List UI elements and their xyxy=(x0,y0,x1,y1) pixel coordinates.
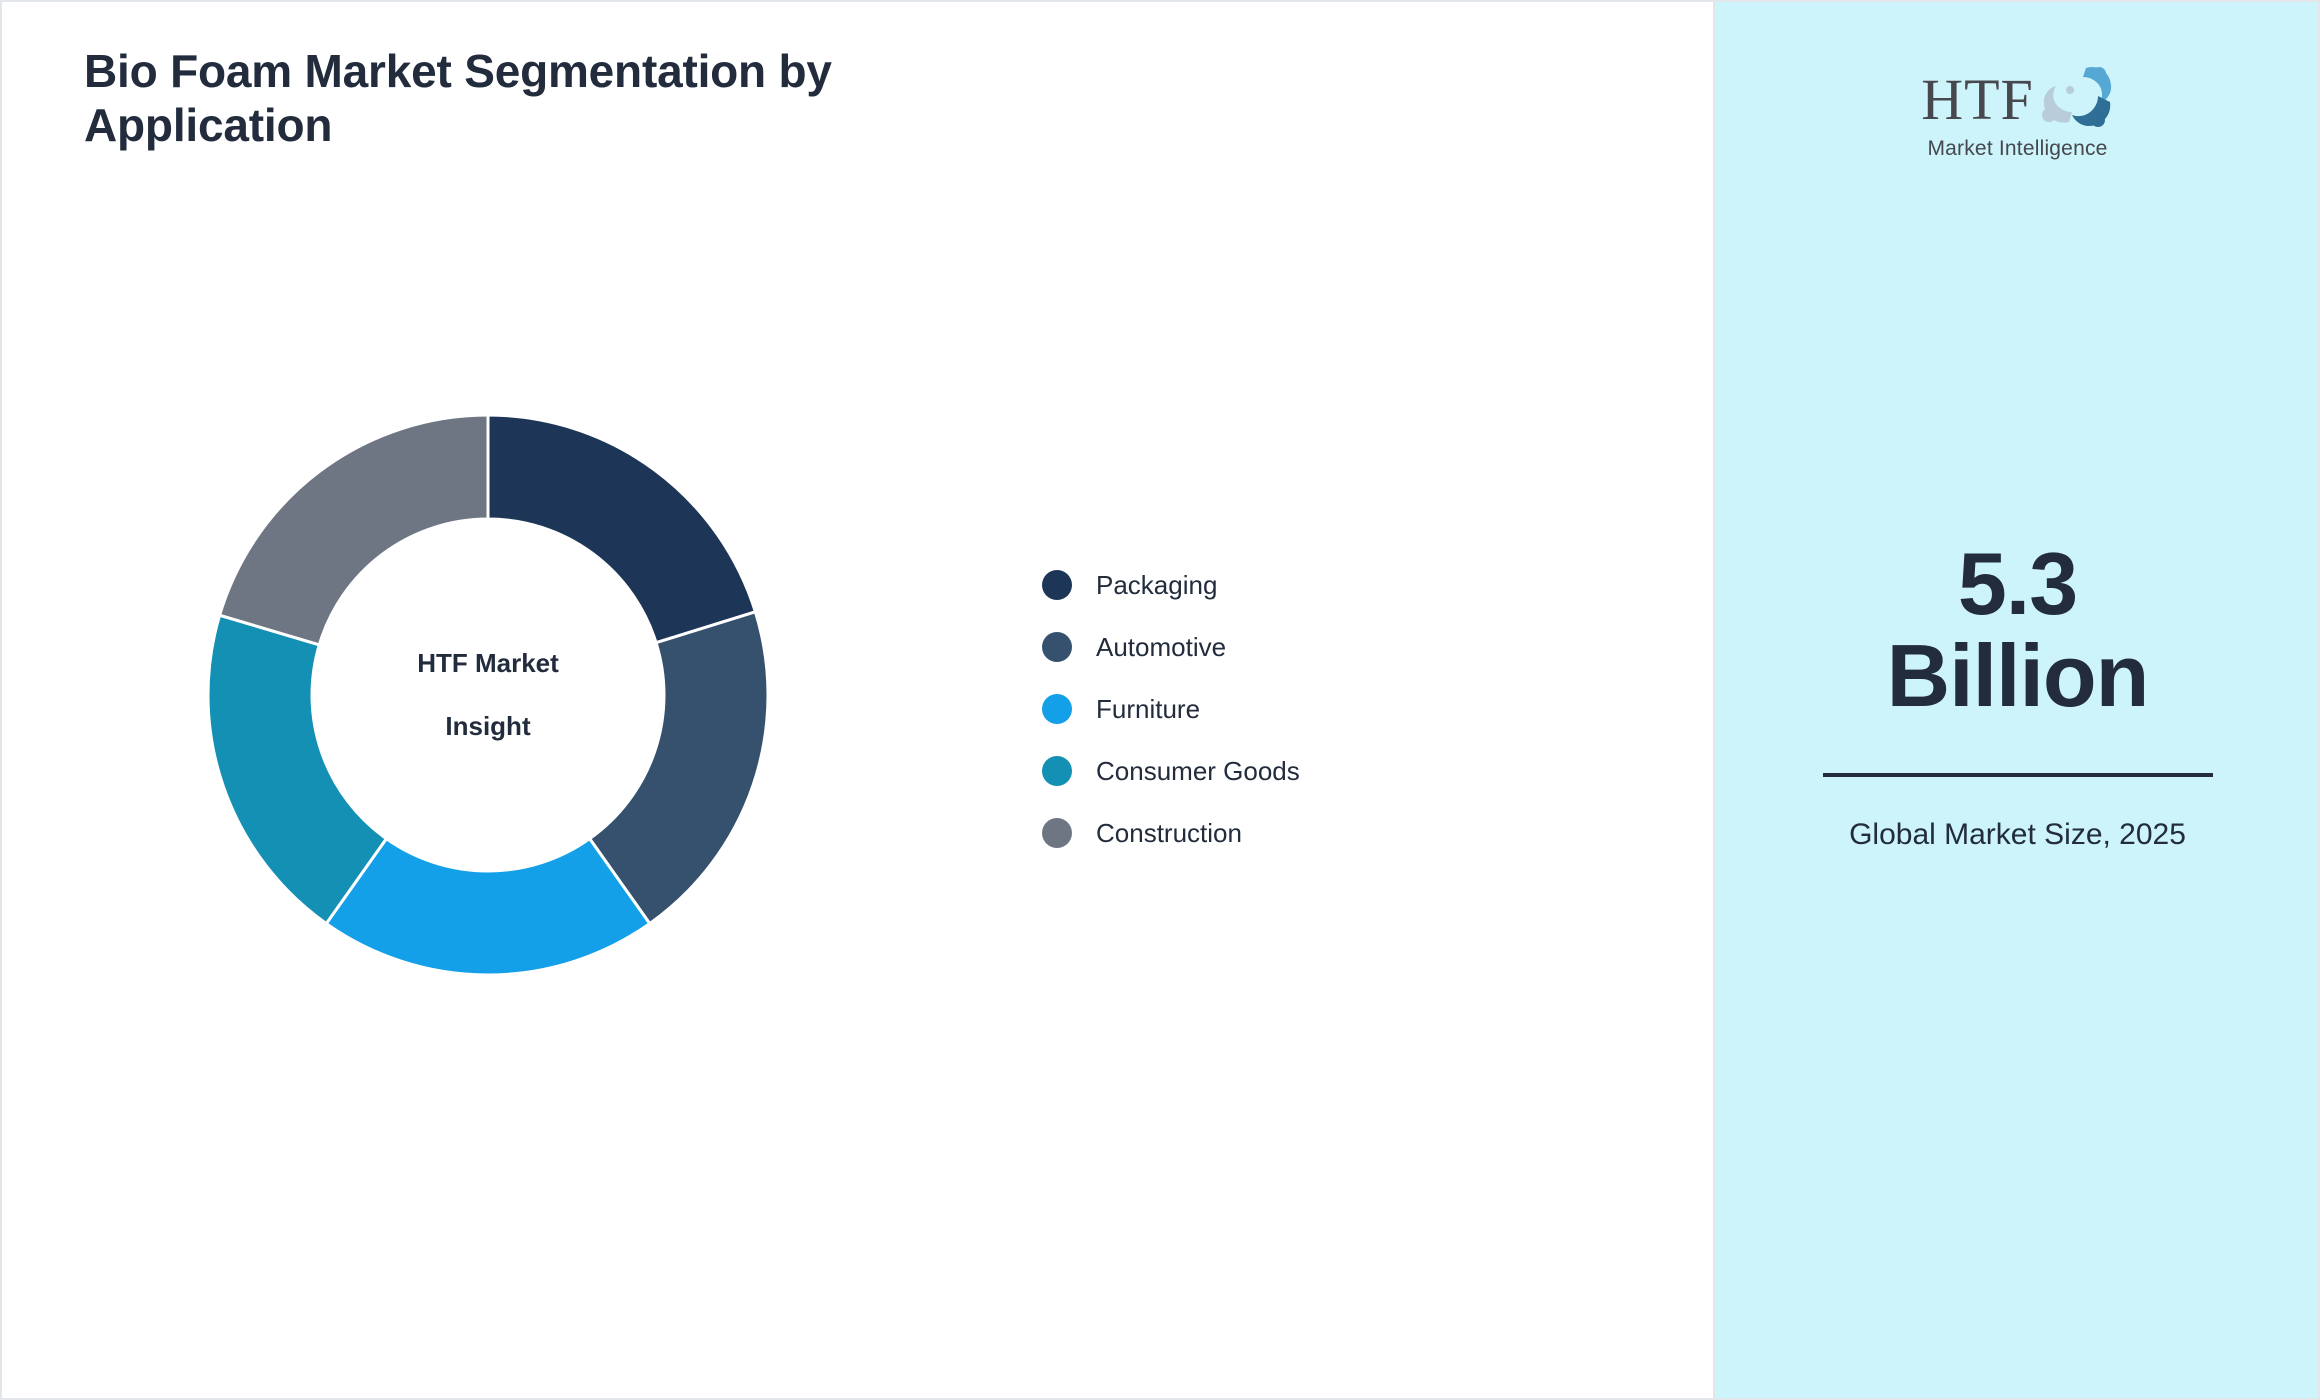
chart-legend: PackagingAutomotiveFurnitureConsumer Goo… xyxy=(1042,554,1300,864)
logo-wordmark: HTF xyxy=(1921,71,2034,129)
legend-item[interactable]: Packaging xyxy=(1042,554,1300,616)
side-panel: HTF Market Intelligence 5. xyxy=(1715,0,2320,1400)
legend-swatch-icon xyxy=(1042,570,1072,600)
legend-item[interactable]: Construction xyxy=(1042,802,1300,864)
donut-slice-packaging[interactable] xyxy=(488,415,755,643)
stat-block: 5.3 Billion Global Market Size, 2025 xyxy=(1715,538,2320,855)
donut-slice-furniture[interactable] xyxy=(326,839,649,975)
main-panel: Bio Foam Market Segmentation by Applicat… xyxy=(0,0,1715,1400)
donut-chart: HTF Market Insight xyxy=(188,395,788,995)
stat-caption: Global Market Size, 2025 xyxy=(1848,815,2188,856)
infographic-root: Bio Foam Market Segmentation by Applicat… xyxy=(0,0,2320,1400)
legend-item-label: Furniture xyxy=(1096,694,1200,725)
legend-item-label: Automotive xyxy=(1096,632,1226,663)
donut-slice-consumer-goods[interactable] xyxy=(208,615,386,923)
logo-tagline: Market Intelligence xyxy=(1927,137,2107,161)
page-title: Bio Foam Market Segmentation by Applicat… xyxy=(84,44,1064,153)
legend-item[interactable]: Consumer Goods xyxy=(1042,740,1300,802)
legend-swatch-icon xyxy=(1042,694,1072,724)
stat-value-line2: Billion xyxy=(1715,630,2320,722)
legend-swatch-icon xyxy=(1042,632,1072,662)
logo-row: HTF xyxy=(1921,64,2114,135)
donut-slice-group xyxy=(208,415,768,975)
donut-slice-construction[interactable] xyxy=(220,415,488,645)
legend-item[interactable]: Furniture xyxy=(1042,678,1300,740)
donut-chart-svg xyxy=(188,395,788,995)
legend-item-label: Construction xyxy=(1096,818,1242,849)
htf-people-circle-icon xyxy=(2036,58,2114,135)
legend-swatch-icon xyxy=(1042,756,1072,786)
legend-item-label: Packaging xyxy=(1096,570,1217,601)
legend-item[interactable]: Automotive xyxy=(1042,616,1300,678)
stat-divider xyxy=(1823,773,2213,777)
brand-logo: HTF Market Intelligence xyxy=(1715,64,2320,161)
legend-item-label: Consumer Goods xyxy=(1096,756,1300,787)
legend-swatch-icon xyxy=(1042,818,1072,848)
stat-value-line1: 5.3 xyxy=(1715,538,2320,630)
